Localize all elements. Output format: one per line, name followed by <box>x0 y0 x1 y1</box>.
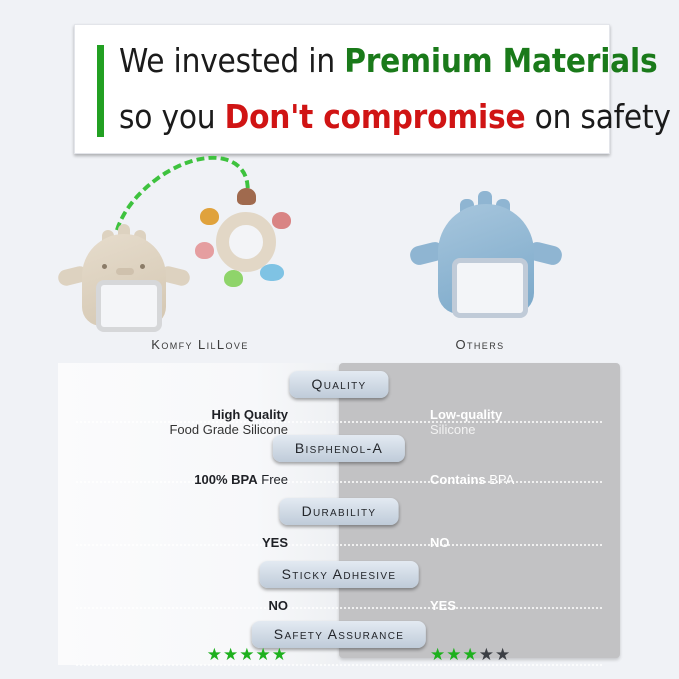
row-divider <box>76 664 602 666</box>
rattle-bead <box>224 270 243 287</box>
rattle-bead <box>195 242 214 259</box>
headline-line1-plain: We invested in <box>119 41 344 80</box>
star-empty-icon: ★★ <box>479 645 511 664</box>
rattle-ring <box>216 212 276 272</box>
headline-text: We invested in Premium Materials so you … <box>119 33 603 145</box>
star-filled-icon: ★★★ <box>430 645 479 664</box>
headline-line2-plain: so you <box>119 97 225 136</box>
headline-line1-highlight: Premium Materials <box>344 41 657 80</box>
rattle-bead <box>237 188 256 205</box>
headline-line-2: so you Don't compromise on safety <box>119 89 603 145</box>
rating-ours: ★★★★★ <box>207 645 288 665</box>
feature-pill-safety-assurance: Safety Assurance <box>252 621 426 648</box>
mitten-eye-right <box>140 264 145 269</box>
mitten-opening <box>96 280 162 332</box>
headline-line2-highlight: Don't compromise <box>225 97 526 136</box>
comparison-table: Quality High Quality Food Grade Silicone… <box>58 363 620 665</box>
product-left-label: Komfy LilLove <box>60 337 340 352</box>
value-ours-durability: YES <box>262 535 288 550</box>
rattle-bead <box>260 264 284 281</box>
beige-teether-mitten-image <box>68 222 180 330</box>
value-ours-quality: High Quality Food Grade Silicone <box>169 407 288 437</box>
product-showcase: Komfy LilLove Others <box>0 168 679 358</box>
product-right: Others <box>340 168 620 358</box>
mitten-opening <box>452 258 528 318</box>
product-right-label: Others <box>340 337 620 352</box>
feature-pill-quality: Quality <box>290 371 389 398</box>
row-divider <box>76 481 602 483</box>
row-divider <box>76 421 602 423</box>
rattle-bead <box>272 212 291 229</box>
green-accent-bar <box>97 45 104 137</box>
rattle-bead <box>200 208 219 225</box>
product-left: Komfy LilLove <box>60 168 340 358</box>
row-divider <box>76 544 602 546</box>
feature-pill-durability: Durability <box>280 498 399 525</box>
star-filled-icon: ★★★★★ <box>207 645 288 664</box>
value-ours-sticky: NO <box>269 598 289 613</box>
headline-line-1: We invested in Premium Materials <box>119 33 603 89</box>
headline-banner: We invested in Premium Materials so you … <box>74 24 610 154</box>
mitten-eye-left <box>102 264 107 269</box>
rating-others: ★★★★★ <box>430 645 511 665</box>
headline-line2-tail: on safety <box>525 97 670 136</box>
feature-pill-bisphenol-a: Bisphenol-A <box>273 435 405 462</box>
value-others-sticky: YES <box>430 598 456 613</box>
value-others-durability: NO <box>430 535 450 550</box>
blue-teether-mitten-image <box>422 190 550 326</box>
ring-rattle-image <box>194 190 298 294</box>
mitten-beak <box>116 268 134 275</box>
value-others-quality: Low-quality Silicone <box>430 407 502 437</box>
feature-pill-sticky-adhesive: Sticky Adhesive <box>260 561 419 588</box>
value-others-bpa: Contains BPA <box>430 472 514 487</box>
value-ours-bpa: 100% BPA Free <box>194 472 288 487</box>
row-divider <box>76 607 602 609</box>
